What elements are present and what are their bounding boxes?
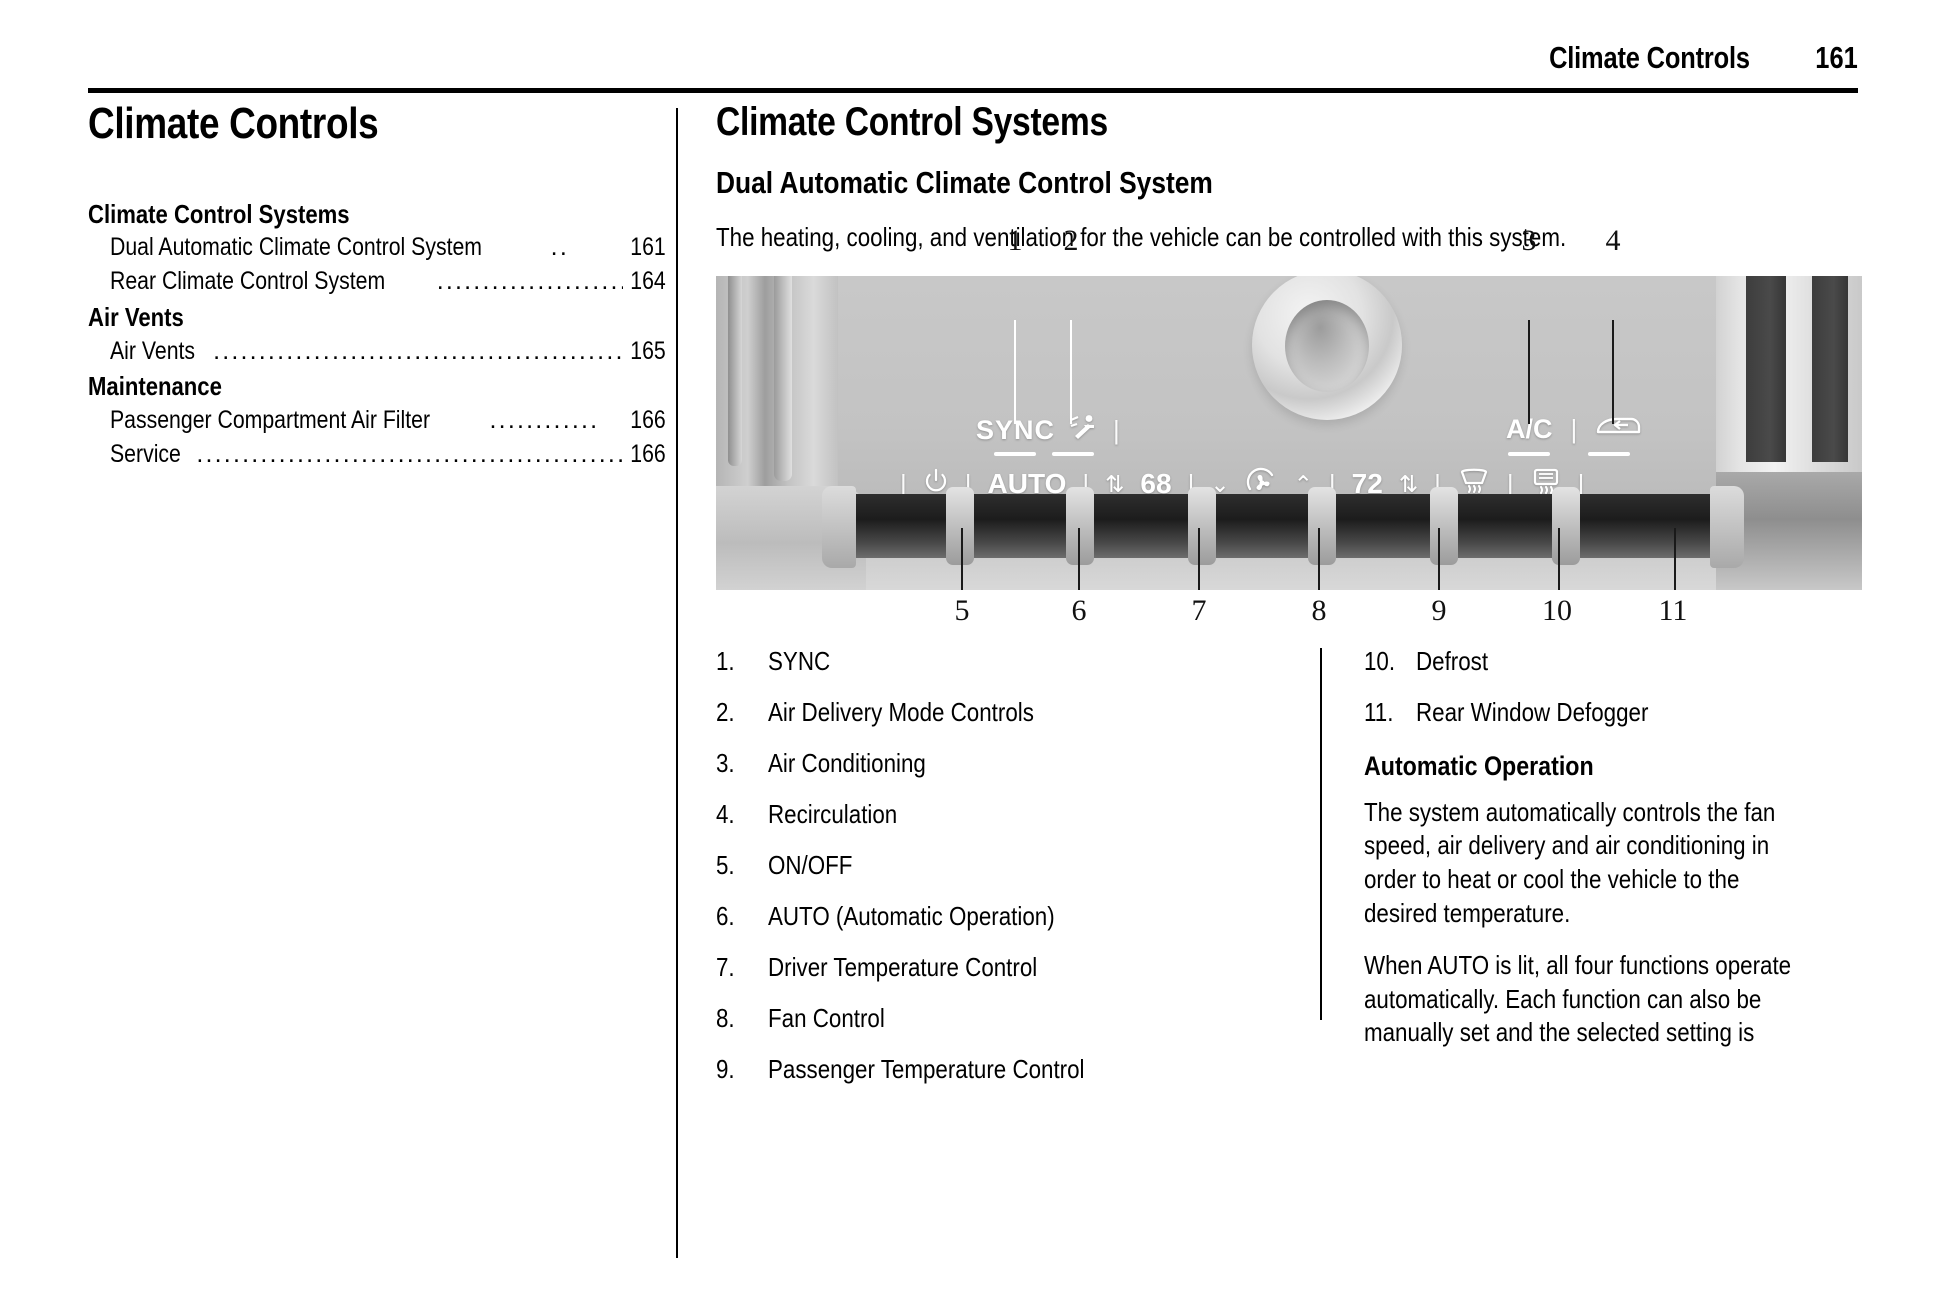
- legend-label: Passenger Temperature Control: [768, 1056, 1085, 1082]
- paragraph-line: manually set and the selected setting is: [1364, 1016, 1794, 1050]
- callout-line-1: [1014, 320, 1016, 424]
- legend-item-3: 3. Air Conditioning: [716, 750, 1296, 776]
- toc-entry-dual-automatic-climate-control-system[interactable]: Dual Automatic Climate Control System ..…: [88, 231, 666, 265]
- toc-group-title: Air Vents: [88, 301, 581, 335]
- toc-entry-page: 166: [631, 438, 666, 472]
- intro-paragraph: The heating, cooling, and ventilation fo…: [716, 222, 1702, 253]
- rocker-divider-rib: [1188, 487, 1216, 565]
- legend-number: 10.: [1364, 648, 1409, 674]
- figure-legend: 1. SYNC 2. Air Delivery Mode Controls 3.…: [716, 648, 1862, 1020]
- toc-leader-dots: ............: [490, 404, 624, 438]
- toc-group-air-vents: Air Vents Air Vents ....................…: [88, 301, 668, 369]
- legend-number: 9.: [716, 1056, 761, 1082]
- legend-column-left: 1. SYNC 2. Air Delivery Mode Controls 3.…: [716, 648, 1296, 1107]
- callout-line-2: [1070, 320, 1072, 424]
- callout-line-7: [1198, 528, 1200, 590]
- paragraph-line: The system automatically controls the fa…: [1364, 796, 1794, 830]
- vent-slat: [1746, 276, 1786, 462]
- display-separator: |: [1113, 415, 1121, 446]
- toc-group-title: Maintenance: [88, 370, 581, 404]
- center-knob[interactable]: [1252, 276, 1402, 420]
- toc-leader-dots: ........................................…: [196, 438, 623, 472]
- legend-label: SYNC: [768, 648, 830, 674]
- rocker-end-cap-right: [1710, 486, 1744, 568]
- toc-entry-service[interactable]: Service ................................…: [88, 438, 666, 472]
- callout-number-11: 11: [1653, 594, 1693, 628]
- legend-column-right: 10. Defrost 11. Rear Window Defogger Aut…: [1364, 648, 1860, 1069]
- callout-number-2: 2: [1051, 224, 1091, 258]
- legend-number: 3.: [716, 750, 761, 776]
- toc-entry-label: Service: [110, 438, 181, 472]
- legend-number: 8.: [716, 1005, 761, 1031]
- callout-line-5: [961, 528, 963, 590]
- toc-leader-dots: ........................: [437, 265, 624, 299]
- ac-underbar: [1508, 452, 1550, 456]
- legend-number: 5.: [716, 852, 761, 878]
- callout-line-3: [1528, 320, 1530, 424]
- rocker-divider-rib: [1430, 487, 1458, 565]
- legend-label: Air Conditioning: [768, 750, 926, 776]
- legend-label: Rear Window Defogger: [1416, 699, 1648, 725]
- recirculation-icon[interactable]: [1595, 414, 1641, 445]
- legend-item-11: 11. Rear Window Defogger: [1364, 699, 1860, 725]
- left-column: Climate Controls Climate Control Systems…: [88, 100, 668, 474]
- legend-number: 4.: [716, 801, 761, 827]
- legend-label: Driver Temperature Control: [768, 954, 1037, 980]
- right-column: Climate Control Systems Dual Automatic C…: [716, 100, 1862, 1020]
- legend-column-divider: [1320, 648, 1322, 1020]
- column-divider: [676, 108, 678, 1258]
- automatic-operation-paragraph-2: When AUTO is lit, all four functions ope…: [1364, 949, 1864, 1050]
- toc-entry-label: Rear Climate Control System: [110, 265, 385, 299]
- running-header: Climate Controls 161: [88, 40, 1858, 90]
- toc-entry-page: 165: [631, 335, 666, 369]
- toc-group-climate-control-systems: Climate Control Systems Dual Automatic C…: [88, 198, 668, 299]
- paragraph-line: order to heat or cool the vehicle to the: [1364, 863, 1794, 897]
- toc-entry-label: Dual Automatic Climate Control System: [110, 231, 482, 265]
- sync-underbar: [994, 452, 1036, 456]
- legend-label: Defrost: [1416, 648, 1488, 674]
- paragraph-line: automatically. Each function can also be: [1364, 983, 1794, 1017]
- toc-entry-page: 166: [631, 404, 666, 438]
- toc-entry-label: Passenger Compartment Air Filter: [110, 404, 430, 438]
- toc-leader-dots: ........................................…: [213, 335, 623, 369]
- legend-item-1: 1. SYNC: [716, 648, 1296, 674]
- toc-entry-passenger-compartment-air-filter[interactable]: Passenger Compartment Air Filter .......…: [88, 404, 666, 438]
- legend-label: Air Delivery Mode Controls: [768, 699, 1034, 725]
- climate-control-panel-figure: SYNC | A/C |: [716, 276, 1862, 636]
- callout-number-6: 6: [1059, 594, 1099, 628]
- callout-number-1: 1: [995, 224, 1035, 258]
- toc-leader-dots: ..: [551, 231, 624, 265]
- rocker-divider-rib: [1066, 487, 1094, 565]
- page-number: 161: [1816, 40, 1858, 76]
- toc-entry-page: 164: [631, 265, 666, 299]
- display-separator: |: [1571, 414, 1578, 445]
- rocker-divider-rib: [946, 487, 974, 565]
- paragraph-line: When AUTO is lit, all four functions ope…: [1364, 949, 1794, 983]
- callout-number-9: 9: [1419, 594, 1459, 628]
- callout-number-8: 8: [1299, 594, 1339, 628]
- rocker-end-cap-left: [822, 486, 856, 568]
- legend-number: 2.: [716, 699, 761, 725]
- legend-item-4: 4. Recirculation: [716, 801, 1296, 827]
- air-delivery-underbar: [1052, 452, 1094, 456]
- header-rule: [88, 88, 1858, 93]
- automatic-operation-paragraph-1: The system automatically controls the fa…: [1364, 796, 1864, 931]
- legend-item-10: 10. Defrost: [1364, 648, 1860, 674]
- toc-entry-air-vents[interactable]: Air Vents ..............................…: [88, 335, 666, 369]
- rocker-divider-rib: [1308, 487, 1336, 565]
- callout-line-4: [1612, 320, 1614, 424]
- legend-item-8: 8. Fan Control: [716, 1005, 1296, 1031]
- callout-number-4: 4: [1593, 224, 1633, 258]
- legend-item-6: 6. AUTO (Automatic Operation): [716, 903, 1296, 929]
- legend-label: ON/OFF: [768, 852, 852, 878]
- legend-item-9: 9. Passenger Temperature Control: [716, 1056, 1296, 1082]
- legend-number: 6.: [716, 903, 761, 929]
- legend-number: 1.: [716, 648, 761, 674]
- display-row-upper-right: A/C |: [1506, 414, 1641, 445]
- toc-group-title: Climate Control Systems: [88, 198, 581, 232]
- rocker-switch-bar[interactable]: [838, 494, 1728, 558]
- callout-line-11: [1674, 528, 1676, 590]
- display-row-upper-left: SYNC |: [976, 414, 1121, 447]
- recirculation-underbar: [1588, 452, 1630, 456]
- climate-control-panel-photo: SYNC | A/C |: [716, 276, 1862, 590]
- callout-number-7: 7: [1179, 594, 1219, 628]
- callout-line-8: [1318, 528, 1320, 590]
- callout-number-3: 3: [1509, 224, 1549, 258]
- air-delivery-mode-icon[interactable]: [1069, 414, 1099, 447]
- legend-number: 7.: [716, 954, 761, 980]
- legend-item-7: 7. Driver Temperature Control: [716, 954, 1296, 980]
- page-body: Climate Controls Climate Control Systems…: [0, 100, 1946, 1290]
- legend-item-2: 2. Air Delivery Mode Controls: [716, 699, 1296, 725]
- header-chapter-title: Climate Controls: [1549, 40, 1750, 76]
- legend-label: Fan Control: [768, 1005, 885, 1031]
- callout-line-6: [1078, 528, 1080, 590]
- toc-entry-label: Air Vents: [110, 335, 195, 369]
- callout-line-9: [1438, 528, 1440, 590]
- subsection-title: Dual Automatic Climate Control System: [716, 165, 1690, 201]
- legend-number: 11.: [1364, 699, 1409, 725]
- automatic-operation-heading: Automatic Operation: [1364, 751, 1791, 782]
- toc-entry-rear-climate-control-system[interactable]: Rear Climate Control System ............…: [88, 265, 666, 299]
- section-title: Climate Control Systems: [716, 100, 1679, 145]
- toc-group-maintenance: Maintenance Passenger Compartment Air Fi…: [88, 370, 668, 471]
- legend-label: Recirculation: [768, 801, 897, 827]
- legend-label: AUTO (Automatic Operation): [768, 903, 1055, 929]
- paragraph-line: speed, air delivery and air conditioning…: [1364, 829, 1794, 863]
- toc-entry-page: 161: [631, 231, 666, 265]
- callout-line-10: [1558, 528, 1560, 590]
- chapter-title: Climate Controls: [88, 100, 575, 148]
- callout-number-10: 10: [1537, 594, 1577, 628]
- callout-number-5: 5: [942, 594, 982, 628]
- legend-item-5: 5. ON/OFF: [716, 852, 1296, 878]
- vent-slat: [1812, 276, 1848, 462]
- paragraph-line: desired temperature.: [1364, 897, 1794, 931]
- rocker-divider-rib: [1552, 487, 1580, 565]
